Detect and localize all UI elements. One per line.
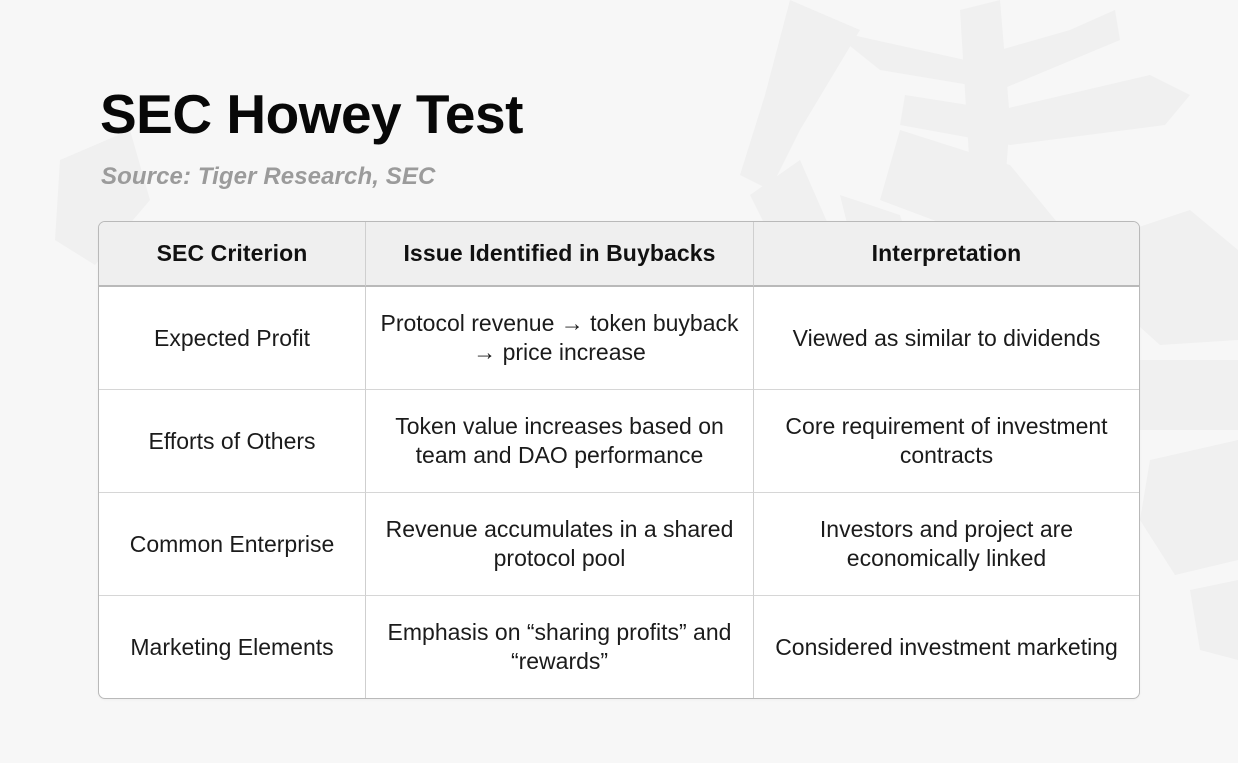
cell-criterion: Expected Profit (99, 287, 365, 389)
table-body: Expected Profit Protocol revenue → token… (99, 287, 1139, 698)
howey-test-table-container: SEC Criterion Issue Identified in Buybac… (98, 221, 1138, 699)
page-subtitle-source: Source: Tiger Research, SEC (101, 163, 435, 191)
column-header-sec-criterion: SEC Criterion (99, 222, 365, 287)
cell-criterion: Marketing Elements (99, 595, 365, 698)
cell-criterion: Common Enterprise (99, 492, 365, 595)
table-header: SEC Criterion Issue Identified in Buybac… (99, 222, 1139, 287)
cell-interpretation: Considered investment marketing (753, 595, 1139, 698)
column-header-issue-identified: Issue Identified in Buybacks (365, 222, 753, 287)
cell-issue: Protocol revenue → token buyback → price… (365, 287, 753, 389)
table-row: Marketing Elements Emphasis on “sharing … (99, 595, 1139, 698)
table-row: Common Enterprise Revenue accumulates in… (99, 492, 1139, 595)
slide-root: SEC Howey Test Source: Tiger Research, S… (0, 0, 1238, 763)
cell-issue: Emphasis on “sharing profits” and “rewar… (365, 595, 753, 698)
cell-interpretation: Investors and project are economically l… (753, 492, 1139, 595)
cell-issue: Token value increases based on team and … (365, 389, 753, 492)
cell-interpretation: Core requirement of investment contracts (753, 389, 1139, 492)
howey-test-table: SEC Criterion Issue Identified in Buybac… (98, 221, 1140, 699)
table-row: Efforts of Others Token value increases … (99, 389, 1139, 492)
column-header-interpretation: Interpretation (753, 222, 1139, 287)
cell-issue: Revenue accumulates in a shared protocol… (365, 492, 753, 595)
cell-interpretation: Viewed as similar to dividends (753, 287, 1139, 389)
table-row: Expected Profit Protocol revenue → token… (99, 287, 1139, 389)
table-header-row: SEC Criterion Issue Identified in Buybac… (99, 222, 1139, 287)
cell-criterion: Efforts of Others (99, 389, 365, 492)
page-title: SEC Howey Test (100, 86, 523, 144)
